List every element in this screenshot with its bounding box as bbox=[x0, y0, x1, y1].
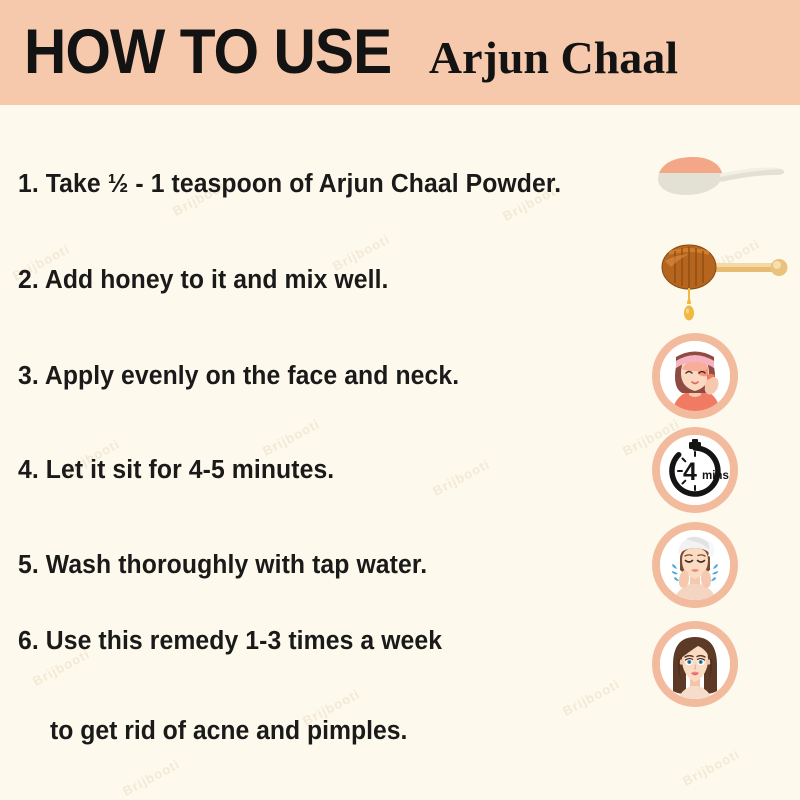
step-text: 4. Let it sit for 4-5 minutes. bbox=[18, 456, 334, 485]
icon-badge bbox=[652, 333, 738, 419]
icon-badge-inner: 4 mins bbox=[660, 435, 730, 505]
list-item: 6. Use this remedy 1-3 times a week to g… bbox=[0, 613, 800, 773]
woman-washing-face-icon bbox=[652, 522, 738, 608]
stopwatch-icon: 4 mins bbox=[652, 427, 738, 513]
step-text: 2. Add honey to it and mix well. bbox=[18, 266, 389, 295]
list-item: 4. Let it sit for 4-5 minutes. bbox=[0, 423, 800, 518]
list-item: 1. Take ½ - 1 teaspoon of Arjun Chaal Po… bbox=[0, 137, 800, 232]
step-text: 1. Take ½ - 1 teaspoon of Arjun Chaal Po… bbox=[18, 170, 561, 199]
step-text-continuation: to get rid of acne and pimples. bbox=[50, 717, 407, 746]
spoon-with-powder-icon bbox=[650, 149, 790, 210]
step-text: 3. Apply evenly on the face and neck. bbox=[18, 362, 459, 391]
icon-badge bbox=[652, 522, 738, 608]
icon-badge bbox=[652, 621, 738, 707]
icon-badge-inner bbox=[660, 530, 730, 600]
icon-badge: 4 mins bbox=[652, 427, 738, 513]
header-title-group: HOW TO USE Arjun Chaal bbox=[0, 21, 678, 84]
woman-clear-face-icon bbox=[652, 621, 738, 707]
list-item: 5. Wash thoroughly with tap water. bbox=[0, 518, 800, 613]
icon-badge-inner bbox=[660, 629, 730, 699]
infographic-page: Brijbooti Brijbooti Brijbooti Brijbooti … bbox=[0, 0, 800, 800]
icon-badge-inner bbox=[660, 341, 730, 411]
woman-applying-face-mask-icon bbox=[652, 333, 738, 419]
honey-dipper-icon bbox=[655, 235, 795, 330]
list-item: 3. Apply evenly on the face and neck. bbox=[0, 329, 800, 424]
list-item: 2. Add honey to it and mix well. bbox=[0, 233, 800, 328]
page-subtitle: Arjun Chaal bbox=[429, 35, 678, 81]
page-title: HOW TO USE bbox=[24, 21, 391, 84]
step-text: 5. Wash thoroughly with tap water. bbox=[18, 551, 427, 580]
stopwatch-unit: mins bbox=[702, 470, 729, 482]
step-text: 6. Use this remedy 1-3 times a week bbox=[18, 627, 442, 656]
header-banner: HOW TO USE Arjun Chaal bbox=[0, 0, 800, 105]
stopwatch-value: 4 bbox=[683, 458, 697, 486]
